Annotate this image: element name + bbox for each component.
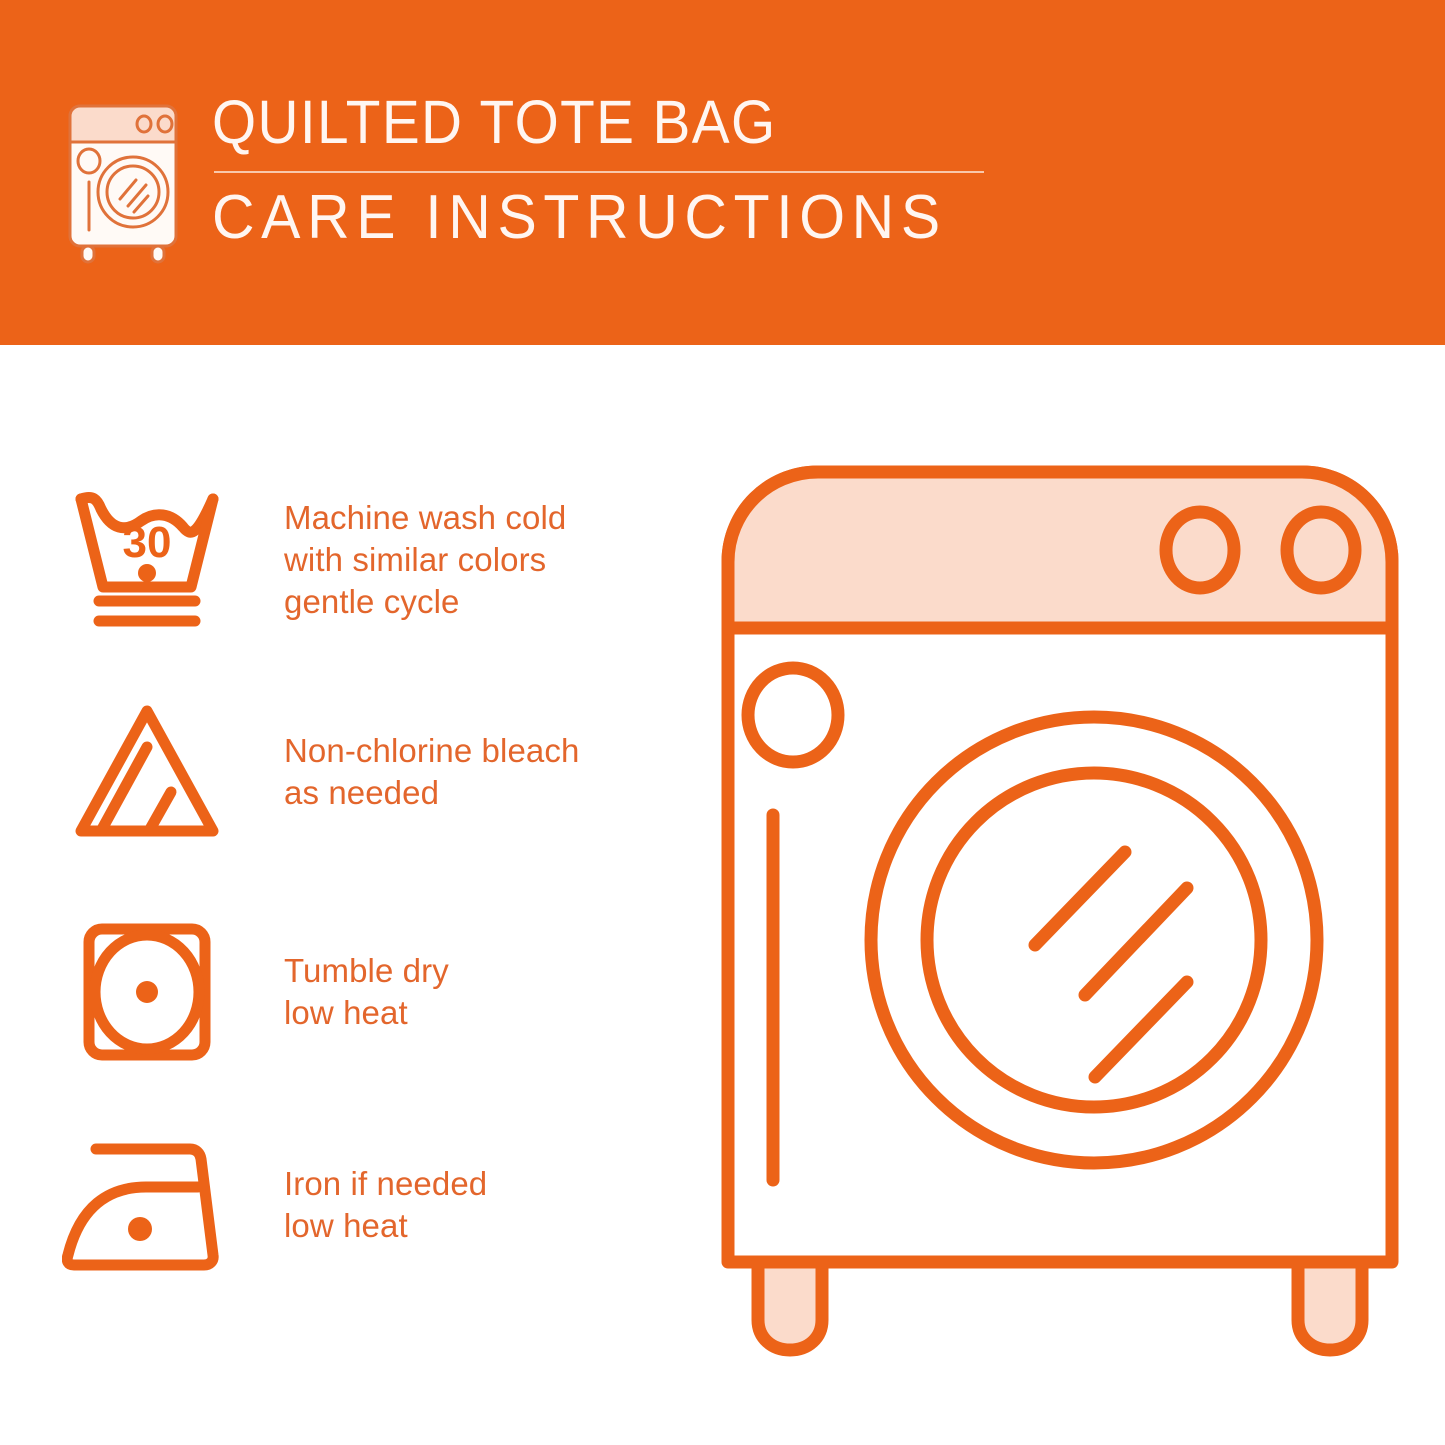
care-item-label: Non-chlorine bleach as needed xyxy=(284,730,579,814)
care-item-iron: Iron if needed low heat xyxy=(62,1135,682,1275)
care-item-label: Iron if needed low heat xyxy=(284,1163,487,1247)
header-content: QUILTED TOTE BAG CARE INSTRUCTIONS xyxy=(62,92,985,265)
care-item-label: Tumble dry low heat xyxy=(284,950,449,1034)
wash-temperature-value: 30 xyxy=(123,518,172,567)
wash-tub-30-icon: 30 xyxy=(62,485,232,635)
washing-machine-icon xyxy=(62,100,184,265)
care-item-label: Machine wash cold with similar colors ge… xyxy=(284,497,566,624)
care-instructions-list: 30 Machine wash cold with similar colors… xyxy=(0,345,700,1445)
page-title: QUILTED TOTE BAG xyxy=(212,92,931,161)
page-subtitle: CARE INSTRUCTIONS xyxy=(212,187,947,249)
washing-machine-illustration xyxy=(700,440,1420,1380)
iron-icon xyxy=(62,1135,232,1275)
tumble-dry-icon xyxy=(62,917,232,1067)
title-divider xyxy=(214,171,984,173)
care-item-machine-wash: 30 Machine wash cold with similar colors… xyxy=(62,485,682,635)
care-item-bleach: Non-chlorine bleach as needed xyxy=(62,697,682,847)
care-item-tumble-dry: Tumble dry low heat xyxy=(62,917,682,1067)
header-titles: QUILTED TOTE BAG CARE INSTRUCTIONS xyxy=(212,92,985,249)
bleach-triangle-icon xyxy=(62,697,232,847)
page-header: QUILTED TOTE BAG CARE INSTRUCTIONS xyxy=(0,0,1445,345)
